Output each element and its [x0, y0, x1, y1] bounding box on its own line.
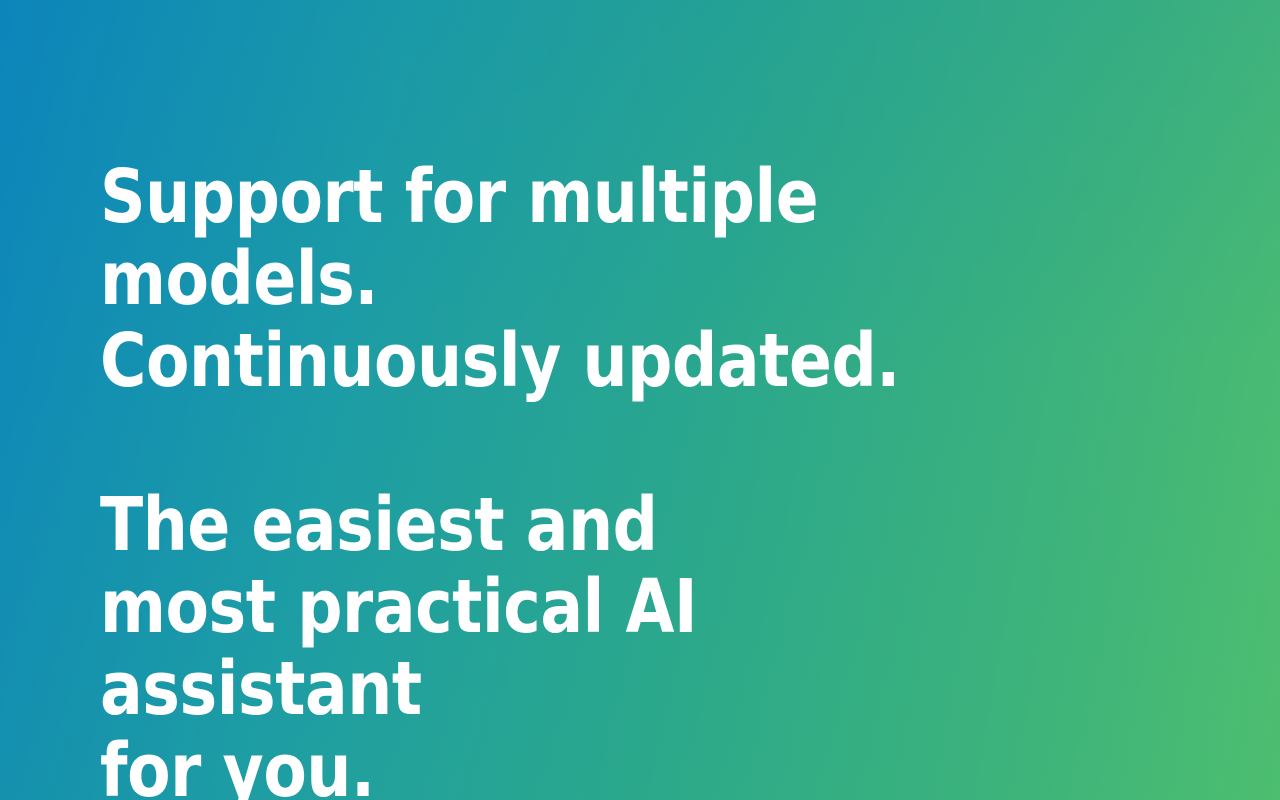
subheadline: The easiest and most practical AI assist… [100, 484, 1023, 800]
copy-spacer [100, 402, 1180, 484]
hero-slide: Support for multiple models. Continuousl… [0, 0, 1280, 800]
headline: Support for multiple models. Continuousl… [100, 144, 1023, 402]
hero-copy-block: Support for multiple models. Continuousl… [100, 144, 1180, 800]
